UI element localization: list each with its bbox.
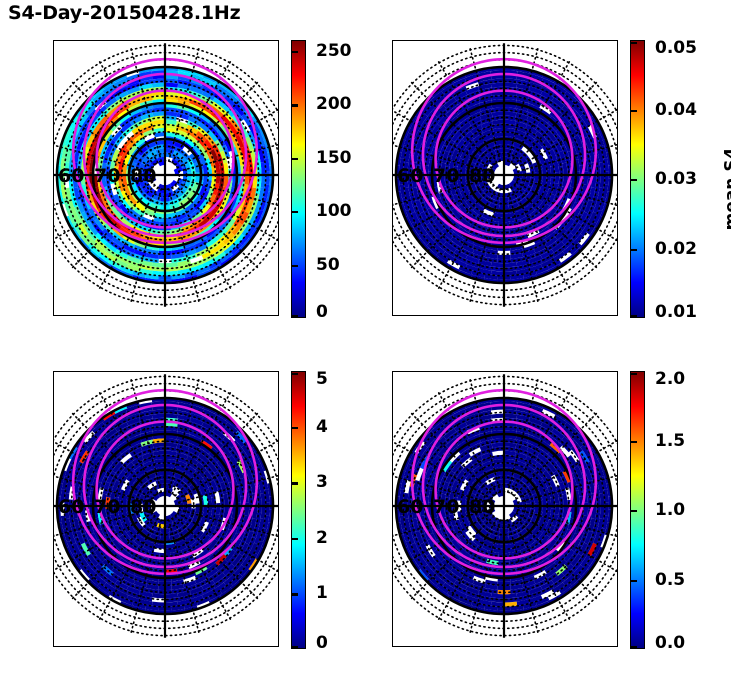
colorbar-title: mean S4 [721, 148, 731, 231]
colorbar-tick-mark [291, 265, 298, 267]
heatmap-cell [491, 414, 504, 419]
heatmap-cell [583, 503, 588, 516]
colorbar-tick-mark [291, 593, 298, 595]
radial-tick-label: 80 [130, 496, 156, 518]
colorbar-tick-mark [291, 482, 298, 484]
heatmap-cell [244, 172, 249, 185]
radial-tick-label: 70 [433, 165, 459, 187]
colorbar-tick-label: 150 [316, 148, 352, 168]
colorbar-tick-label: 4 [316, 417, 328, 437]
heatmap-cell [53, 195, 57, 209]
polar-axes-svg: 607080 [53, 40, 279, 316]
heatmap-cell [265, 172, 270, 185]
panel-mean-s4: 607080 [392, 40, 618, 316]
colorbar-tick-label: 1.0 [655, 500, 685, 520]
colorbar-tick-label: 3 [316, 472, 328, 492]
polar-axes-svg: 607080 [392, 40, 618, 316]
colorbar-tick-mark [630, 646, 637, 648]
heatmap-cell [165, 262, 178, 267]
colorbar-tick-mark [291, 315, 298, 317]
colorbar-tick-label: 250 [316, 41, 352, 61]
heatmap-cell [216, 172, 221, 184]
panel-data-points: 607080 [53, 40, 279, 316]
heatmap-cell [604, 172, 609, 185]
colorbar-tick-label: 50 [316, 255, 340, 275]
heatmap-cell [178, 616, 192, 622]
colorbar-tick-mark [630, 42, 637, 44]
colorbar-tick-mark [630, 110, 637, 112]
heatmap-cell [178, 285, 192, 291]
colorbar-gradient [291, 40, 306, 318]
colorbar-tick-mark [291, 104, 298, 106]
polar-plot-data-points: 607080 [53, 40, 279, 316]
radial-tick-label: 60 [397, 496, 423, 518]
heatmap-cell [263, 448, 273, 462]
colorbar-tick-mark [291, 646, 298, 648]
colorbar-tick-mark [630, 373, 637, 375]
radial-tick-label: 80 [469, 165, 495, 187]
colorbar-tick-label: 1.5 [655, 431, 685, 451]
colorbar-tick-label: 2 [316, 528, 328, 548]
colorbar-tick-label: 1 [316, 583, 328, 603]
radial-tick-label: 80 [469, 496, 495, 518]
polar-axes-svg: 607080 [392, 371, 618, 647]
panel-occurrence-rate-gt-0-15: 607080 [392, 371, 618, 647]
colorbar-tick-label: 0.02 [655, 239, 697, 259]
radial-tick-label: 70 [94, 165, 120, 187]
colorbar-occurrence-rate-gt-0-1: 012345 occurrence rate (>.1) [291, 371, 306, 649]
radial-tick-label: 60 [58, 496, 84, 518]
heatmap-cell [265, 503, 270, 516]
colorbar-tick-mark [291, 538, 298, 540]
colorbar-tick-label: 0.0 [655, 633, 685, 653]
colorbar-tick-mark [630, 315, 637, 317]
polar-plot-occurrence-rate-gt-0-1: 607080 [53, 371, 279, 647]
heatmap-cell [53, 460, 61, 474]
colorbar-tick-mark [291, 51, 298, 53]
colorbar-tick-mark [630, 179, 637, 181]
colorbar-tick-mark [630, 510, 637, 512]
heatmap-cell [216, 503, 221, 515]
colorbar-tick-label: 5 [316, 369, 328, 389]
polar-axes-svg: 607080 [53, 371, 279, 647]
heatmap-cell [615, 513, 618, 527]
colorbar-tick-mark [630, 580, 637, 582]
heatmap-cell [244, 503, 249, 516]
colorbar-data-points: 050100150200250 Data points [291, 40, 306, 318]
colorbar-tick-label: 200 [316, 94, 352, 114]
radial-tick-label: 70 [433, 496, 459, 518]
heatmap-cell [583, 172, 588, 185]
heatmap-cell [517, 616, 531, 622]
colorbar-tick-mark [291, 158, 298, 160]
colorbar-tick-label: 0.04 [655, 100, 697, 120]
colorbar-occurrence-rate-gt-0-15: 0.00.51.01.52.0 occurrence rate (>.15) [630, 371, 645, 649]
colorbar-tick-mark [291, 427, 298, 429]
polar-plot-mean-s4: 607080 [392, 40, 618, 316]
colorbar-tick-mark [291, 373, 298, 375]
figure-title: S4-Day-20150428.1Hz [8, 2, 240, 24]
colorbar-tick-label: 0 [316, 302, 328, 322]
colorbar-mean-s4: 0.010.020.030.040.05 mean S4 [630, 40, 645, 318]
heatmap-cell [53, 129, 61, 143]
colorbar-tick-label: 0.05 [655, 38, 697, 58]
colorbar-tick-label: 0.01 [655, 302, 697, 322]
heatmap-cell [602, 117, 612, 131]
colorbar-tick-label: 0.5 [655, 570, 685, 590]
colorbar-tick-label: 2.0 [655, 369, 685, 389]
polar-plot-occurrence-rate-gt-0-15: 607080 [392, 371, 618, 647]
heatmap-cell [276, 513, 279, 527]
heatmap-cell [555, 172, 560, 184]
heatmap-cell [604, 503, 609, 516]
radial-tick-label: 60 [58, 165, 84, 187]
radial-tick-label: 70 [94, 496, 120, 518]
panel-occurrence-rate-gt-0-1: 607080 [53, 371, 279, 647]
colorbar-tick-mark [291, 211, 298, 213]
heatmap-cell [276, 486, 279, 500]
colorbar-tick-label: 0.03 [655, 169, 697, 189]
heatmap-cell [392, 155, 393, 169]
radial-tick-label: 60 [397, 165, 423, 187]
colorbar-tick-label: 0 [316, 633, 328, 653]
figure-canvas: S4-Day-20150428.1Hz 607080 0501001502002… [0, 0, 731, 674]
heatmap-cell [276, 155, 279, 169]
colorbar-gradient [291, 371, 306, 649]
heatmap-cell [53, 182, 54, 196]
heatmap-cell [555, 503, 560, 515]
colorbar-tick-label: 100 [316, 201, 352, 221]
colorbar-tick-mark [630, 249, 637, 251]
heatmap-cell [152, 262, 165, 267]
colorbar-tick-mark [630, 441, 637, 443]
radial-tick-label: 80 [130, 165, 156, 187]
